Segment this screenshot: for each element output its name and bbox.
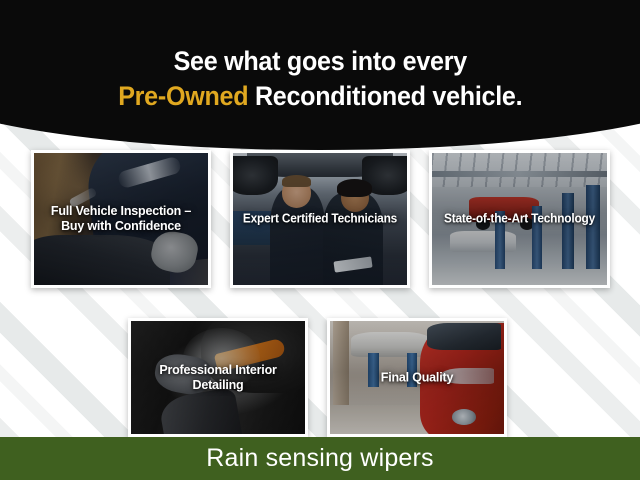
feature-card-caption: State-of-the-Art Technology <box>440 211 599 226</box>
promo-slide: Full Vehicle Inspection – Buy with Confi… <box>0 0 640 480</box>
caption-line-1: Expert Certified Technicians <box>241 211 399 226</box>
feature-card-professional-interior-detailing[interactable]: Professional Interior Detailing <box>128 318 308 437</box>
feature-card-caption: Professional Interior Detailing <box>135 362 301 393</box>
feature-card-final-quality[interactable]: Final Quality <box>327 318 507 437</box>
feature-card-full-vehicle-inspection[interactable]: Full Vehicle Inspection – Buy with Confi… <box>31 150 211 288</box>
caption-line-1: Full Vehicle Inspection – <box>38 204 204 219</box>
caption-line-2: Detailing <box>135 378 301 393</box>
feature-label-text: Rain sensing wipers <box>206 444 434 473</box>
feature-card-expert-certified-technicians[interactable]: Expert Certified Technicians <box>230 150 410 288</box>
caption-line-1: Professional Interior <box>135 362 301 377</box>
caption-line-1: Final Quality <box>334 370 500 385</box>
feature-card-caption: Expert Certified Technicians <box>241 211 399 226</box>
caption-line-1: State-of-the-Art Technology <box>440 211 599 226</box>
caption-line-2: Buy with Confidence <box>38 219 204 234</box>
feature-card-caption: Final Quality <box>334 370 500 385</box>
header-banner-background <box>0 0 640 150</box>
feature-card-caption: Full Vehicle Inspection – Buy with Confi… <box>38 204 204 235</box>
feature-card-state-of-the-art-technology[interactable]: State-of-the-Art Technology <box>429 150 610 288</box>
feature-label-bar: Rain sensing wipers <box>0 437 640 480</box>
